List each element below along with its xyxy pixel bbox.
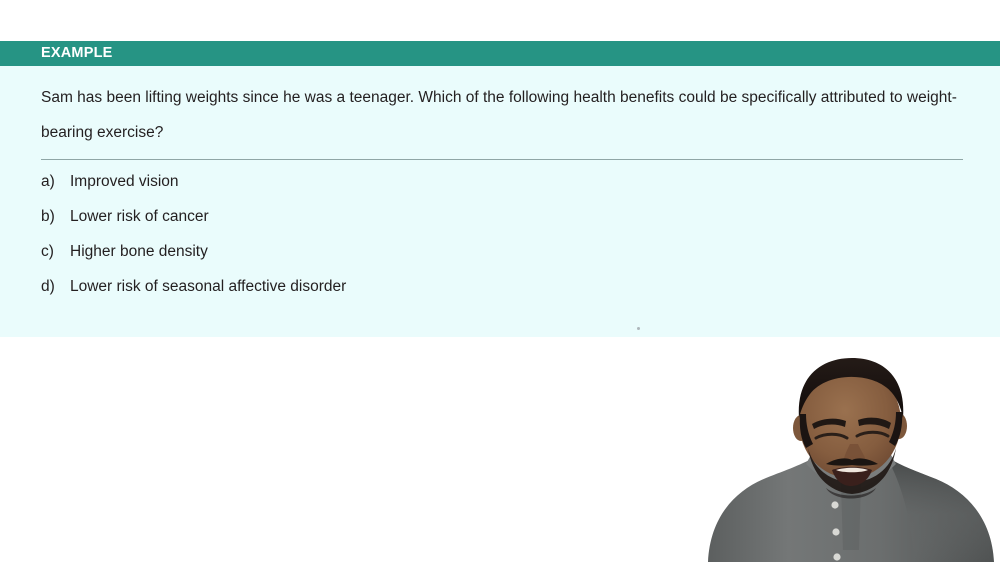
example-header-label: EXAMPLE — [41, 46, 113, 61]
instructor-shirt-button-middle — [832, 528, 839, 535]
answer-option-d-letter: d) — [41, 278, 70, 296]
example-body: Sam has been lifting weights since he wa… — [0, 66, 1000, 337]
question-text: Sam has been lifting weights since he wa… — [41, 80, 959, 150]
cursor-dot — [637, 327, 640, 330]
answer-option-a[interactable]: a) Improved vision — [41, 173, 959, 208]
instructor-shirt-button-top — [831, 501, 838, 508]
example-header-bar: EXAMPLE — [0, 41, 1000, 66]
answer-option-d[interactable]: d) Lower risk of seasonal affective diso… — [41, 278, 959, 313]
answer-option-c[interactable]: c) Higher bone density — [41, 243, 959, 278]
answer-option-b-label: Lower risk of cancer — [70, 208, 959, 226]
answer-option-c-label: Higher bone density — [70, 243, 959, 261]
answer-option-a-letter: a) — [41, 173, 70, 191]
slide-canvas: EXAMPLE Sam has been lifting weights sin… — [0, 0, 1000, 562]
divider-wrap — [0, 150, 1000, 160]
answer-option-b-letter: b) — [41, 208, 70, 226]
example-card: EXAMPLE Sam has been lifting weights sin… — [0, 41, 1000, 337]
instructor-video-overlay — [700, 352, 1000, 562]
answer-option-b[interactable]: b) Lower risk of cancer — [41, 208, 959, 243]
question-block: Sam has been lifting weights since he wa… — [0, 66, 1000, 150]
answer-option-c-letter: c) — [41, 243, 70, 261]
answer-option-a-label: Improved vision — [70, 173, 959, 191]
answer-option-d-label: Lower risk of seasonal affective disorde… — [70, 278, 959, 296]
answer-options-list: a) Improved vision b) Lower risk of canc… — [0, 160, 1000, 313]
instructor-figure-icon — [700, 352, 1000, 562]
instructor-shirt-button-bottom — [833, 553, 840, 560]
